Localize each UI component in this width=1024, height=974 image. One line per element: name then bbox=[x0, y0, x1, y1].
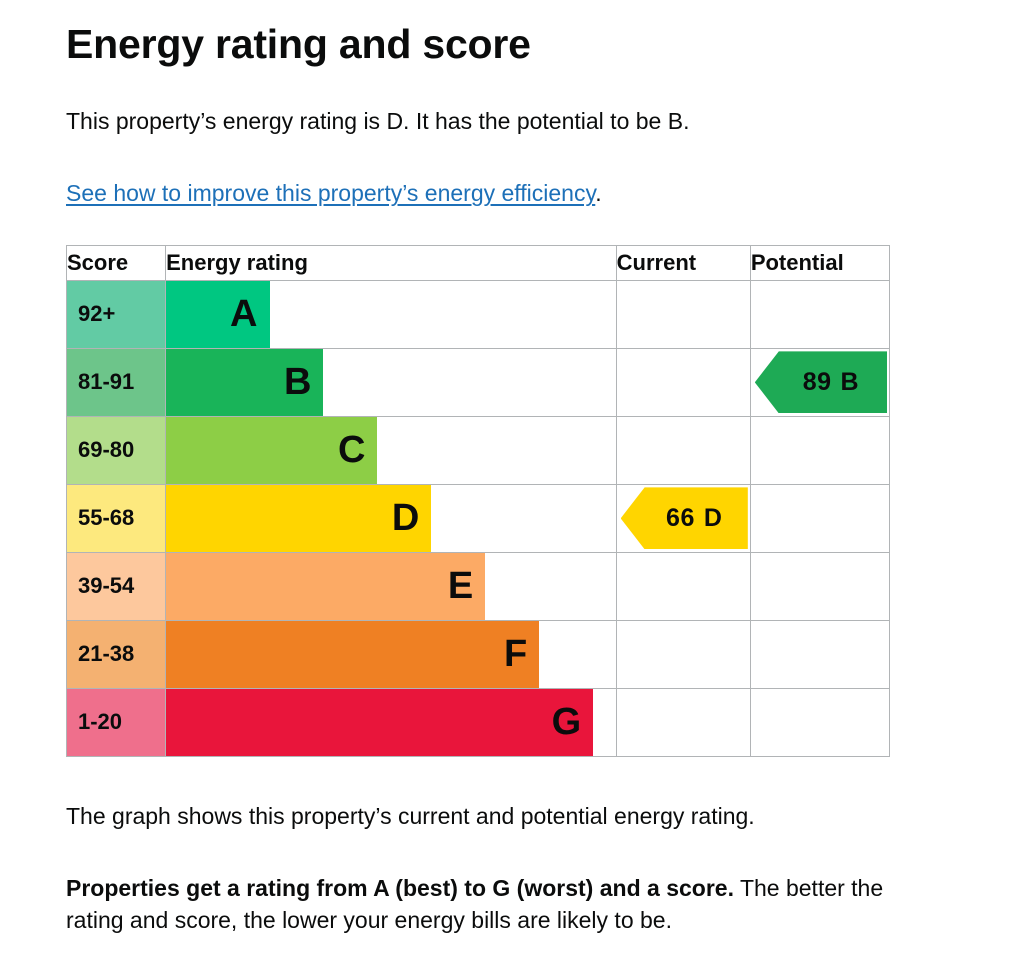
rating-letter-g: G bbox=[552, 703, 582, 741]
rating-letter-e: E bbox=[448, 567, 473, 605]
intro-paragraph: This property’s energy rating is D. It h… bbox=[66, 67, 1024, 136]
rating-bar-cell-g: G bbox=[166, 688, 617, 756]
table-row: 55-68D66D bbox=[67, 484, 890, 552]
header-score: Score bbox=[67, 245, 166, 280]
rating-bar-c: C bbox=[166, 417, 377, 484]
rating-bar-g: G bbox=[166, 689, 593, 756]
table-header: Score Energy rating Current Potential bbox=[67, 245, 890, 280]
rating-bar-cell-f: F bbox=[166, 620, 617, 688]
potential-cell-g bbox=[750, 688, 889, 756]
potential-rating-marker: 89B bbox=[755, 351, 887, 413]
potential-rating-letter: B bbox=[841, 368, 860, 397]
rating-bar-b: B bbox=[166, 349, 323, 416]
potential-cell-b: 89B bbox=[750, 348, 889, 416]
header-current: Current bbox=[616, 245, 750, 280]
table-header-row: Score Energy rating Current Potential bbox=[67, 245, 890, 280]
table-row: 21-38F bbox=[67, 620, 890, 688]
current-cell-b bbox=[616, 348, 750, 416]
ratings-explanation-bold: Properties get a rating from A (best) to… bbox=[66, 875, 734, 901]
rating-letter-a: A bbox=[230, 295, 257, 333]
table-row: 1-20G bbox=[67, 688, 890, 756]
epc-page: Energy rating and score This property’s … bbox=[0, 0, 1024, 974]
rating-bar-cell-d: D bbox=[166, 484, 617, 552]
epc-rating-table: Score Energy rating Current Potential 92… bbox=[66, 245, 890, 757]
table-body: 92+A81-91B89B69-80C55-68D66D39-54E21-38F… bbox=[67, 280, 890, 756]
score-band-b: 81-91 bbox=[67, 348, 166, 416]
rating-bar-cell-b: B bbox=[166, 348, 617, 416]
score-band-c: 69-80 bbox=[67, 416, 166, 484]
current-cell-d: 66D bbox=[616, 484, 750, 552]
rating-bar-d: D bbox=[166, 485, 431, 552]
score-band-e: 39-54 bbox=[67, 552, 166, 620]
header-potential: Potential bbox=[750, 245, 889, 280]
potential-cell-a bbox=[750, 280, 889, 348]
rating-letter-b: B bbox=[284, 363, 311, 401]
header-energy-rating: Energy rating bbox=[166, 245, 617, 280]
table-row: 92+A bbox=[67, 280, 890, 348]
rating-bar-cell-e: E bbox=[166, 552, 617, 620]
current-rating-letter: D bbox=[704, 504, 723, 533]
rating-letter-c: C bbox=[338, 431, 365, 469]
table-row: 69-80C bbox=[67, 416, 890, 484]
current-rating-marker: 66D bbox=[621, 487, 748, 549]
potential-cell-e bbox=[750, 552, 889, 620]
potential-cell-d bbox=[750, 484, 889, 552]
score-band-a: 92+ bbox=[67, 280, 166, 348]
score-band-d: 55-68 bbox=[67, 484, 166, 552]
potential-cell-f bbox=[750, 620, 889, 688]
potential-cell-c bbox=[750, 416, 889, 484]
current-cell-g bbox=[616, 688, 750, 756]
page-title: Energy rating and score bbox=[66, 0, 1024, 67]
potential-score-value: 89 bbox=[803, 368, 832, 397]
current-cell-c bbox=[616, 416, 750, 484]
rating-letter-d: D bbox=[392, 499, 419, 537]
table-row: 81-91B89B bbox=[67, 348, 890, 416]
score-band-f: 21-38 bbox=[67, 620, 166, 688]
score-band-g: 1-20 bbox=[67, 688, 166, 756]
rating-bar-cell-a: A bbox=[166, 280, 617, 348]
graph-caption: The graph shows this property’s current … bbox=[66, 757, 1024, 831]
rating-bar-cell-c: C bbox=[166, 416, 617, 484]
current-score-value: 66 bbox=[666, 504, 695, 533]
improve-efficiency-line: See how to improve this property’s energ… bbox=[66, 136, 1024, 208]
current-cell-a bbox=[616, 280, 750, 348]
link-trailing-period: . bbox=[595, 180, 601, 206]
rating-letter-f: F bbox=[504, 635, 527, 673]
rating-bar-f: F bbox=[166, 621, 539, 688]
improve-efficiency-link[interactable]: See how to improve this property’s energ… bbox=[66, 180, 595, 206]
epc-graph: Score Energy rating Current Potential 92… bbox=[66, 209, 1024, 757]
table-row: 39-54E bbox=[67, 552, 890, 620]
ratings-explanation: Properties get a rating from A (best) to… bbox=[66, 831, 896, 936]
rating-bar-e: E bbox=[166, 553, 485, 620]
current-cell-f bbox=[616, 620, 750, 688]
current-cell-e bbox=[616, 552, 750, 620]
rating-bar-a: A bbox=[166, 281, 269, 348]
